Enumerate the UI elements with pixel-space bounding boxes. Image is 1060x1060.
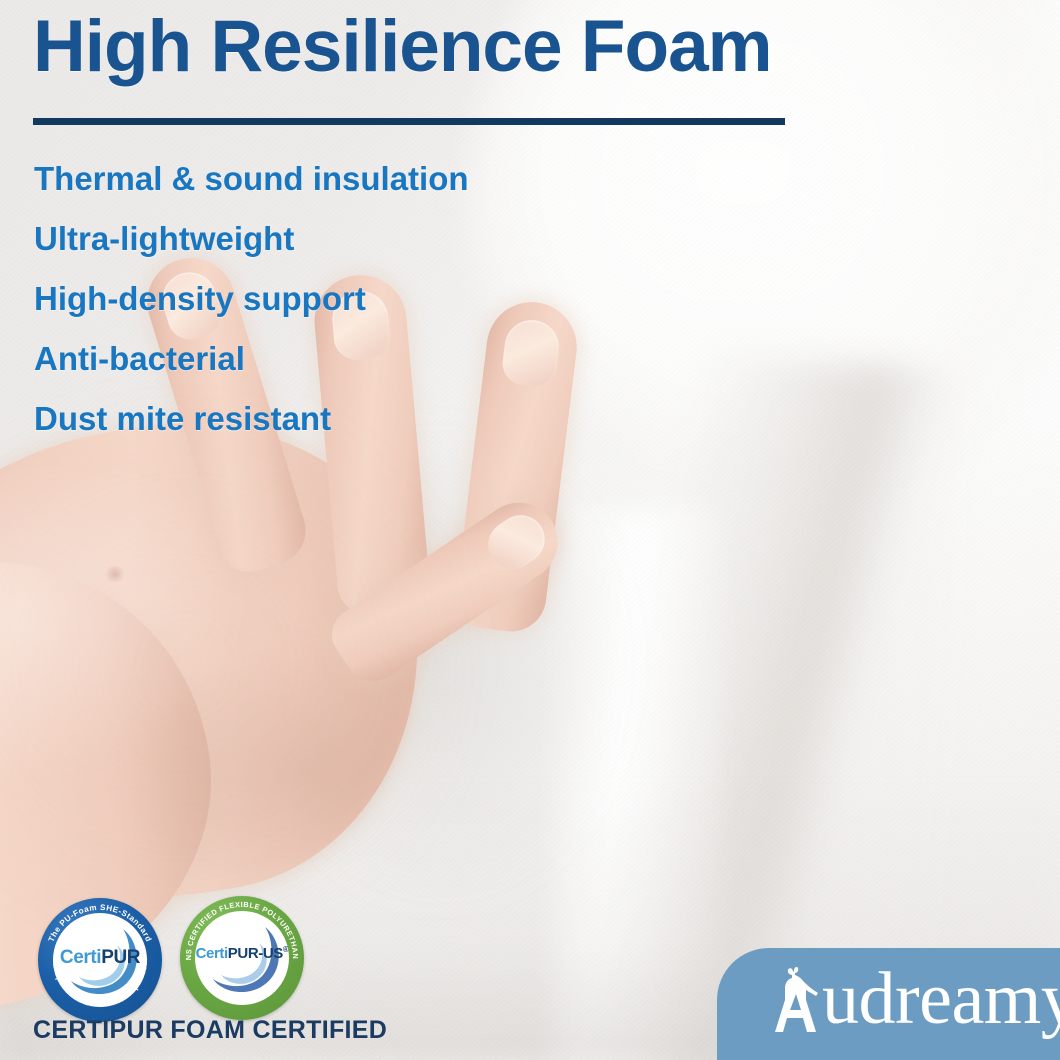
feature-list: Thermal & sound insulation Ultra-lightwe…	[34, 162, 674, 462]
certipur-eu-wordmark: CertiPUR	[53, 947, 147, 969]
certipur-eu-badge-face: CertiPUR	[53, 913, 147, 1007]
certipur-us-badge-icon: CONTAINS CERTIFIED FLEXIBLE POLYURETHANE…	[180, 896, 304, 1020]
feature-item-high-density-support: High-density support	[34, 282, 674, 315]
feature-item-anti-bacterial: Anti-bacterial	[34, 342, 674, 375]
certipur-eu-word-certi: Certi	[60, 947, 101, 968]
certipur-us-badge-face: CertiPUR-US®	[195, 911, 289, 1005]
title-divider-rule	[33, 118, 785, 125]
brand-name-tail: udreamy	[822, 958, 1060, 1040]
certification-caption: CERTIPUR FOAM CERTIFIED	[33, 1016, 387, 1045]
registered-trademark-symbol: ®	[283, 945, 289, 954]
certipur-eu-word-pur: PUR	[101, 947, 140, 968]
certipur-eu-badge-icon: The PU-Foam SHE-Standard Europur AISBL –…	[38, 898, 162, 1022]
certipur-us-word-pur-us: PUR-US	[228, 945, 283, 962]
brand-logo-panel: Audreamy	[717, 948, 1060, 1060]
feature-item-dust-mite-resistant: Dust mite resistant	[34, 402, 674, 435]
certipur-us-word-certi: Certi	[196, 945, 228, 962]
brand-name: Audreamy	[769, 962, 1060, 1036]
page-title: High Resilience Foam	[33, 10, 772, 83]
feature-item-thermal-sound-insulation: Thermal & sound insulation	[34, 162, 674, 195]
hand-photo	[0, 0, 1060, 1060]
certipur-us-wordmark: CertiPUR-US®	[195, 945, 289, 962]
product-feature-poster: High Resilience Foam Thermal & sound ins…	[0, 0, 1060, 1060]
feature-item-ultra-lightweight: Ultra-lightweight	[34, 222, 674, 255]
